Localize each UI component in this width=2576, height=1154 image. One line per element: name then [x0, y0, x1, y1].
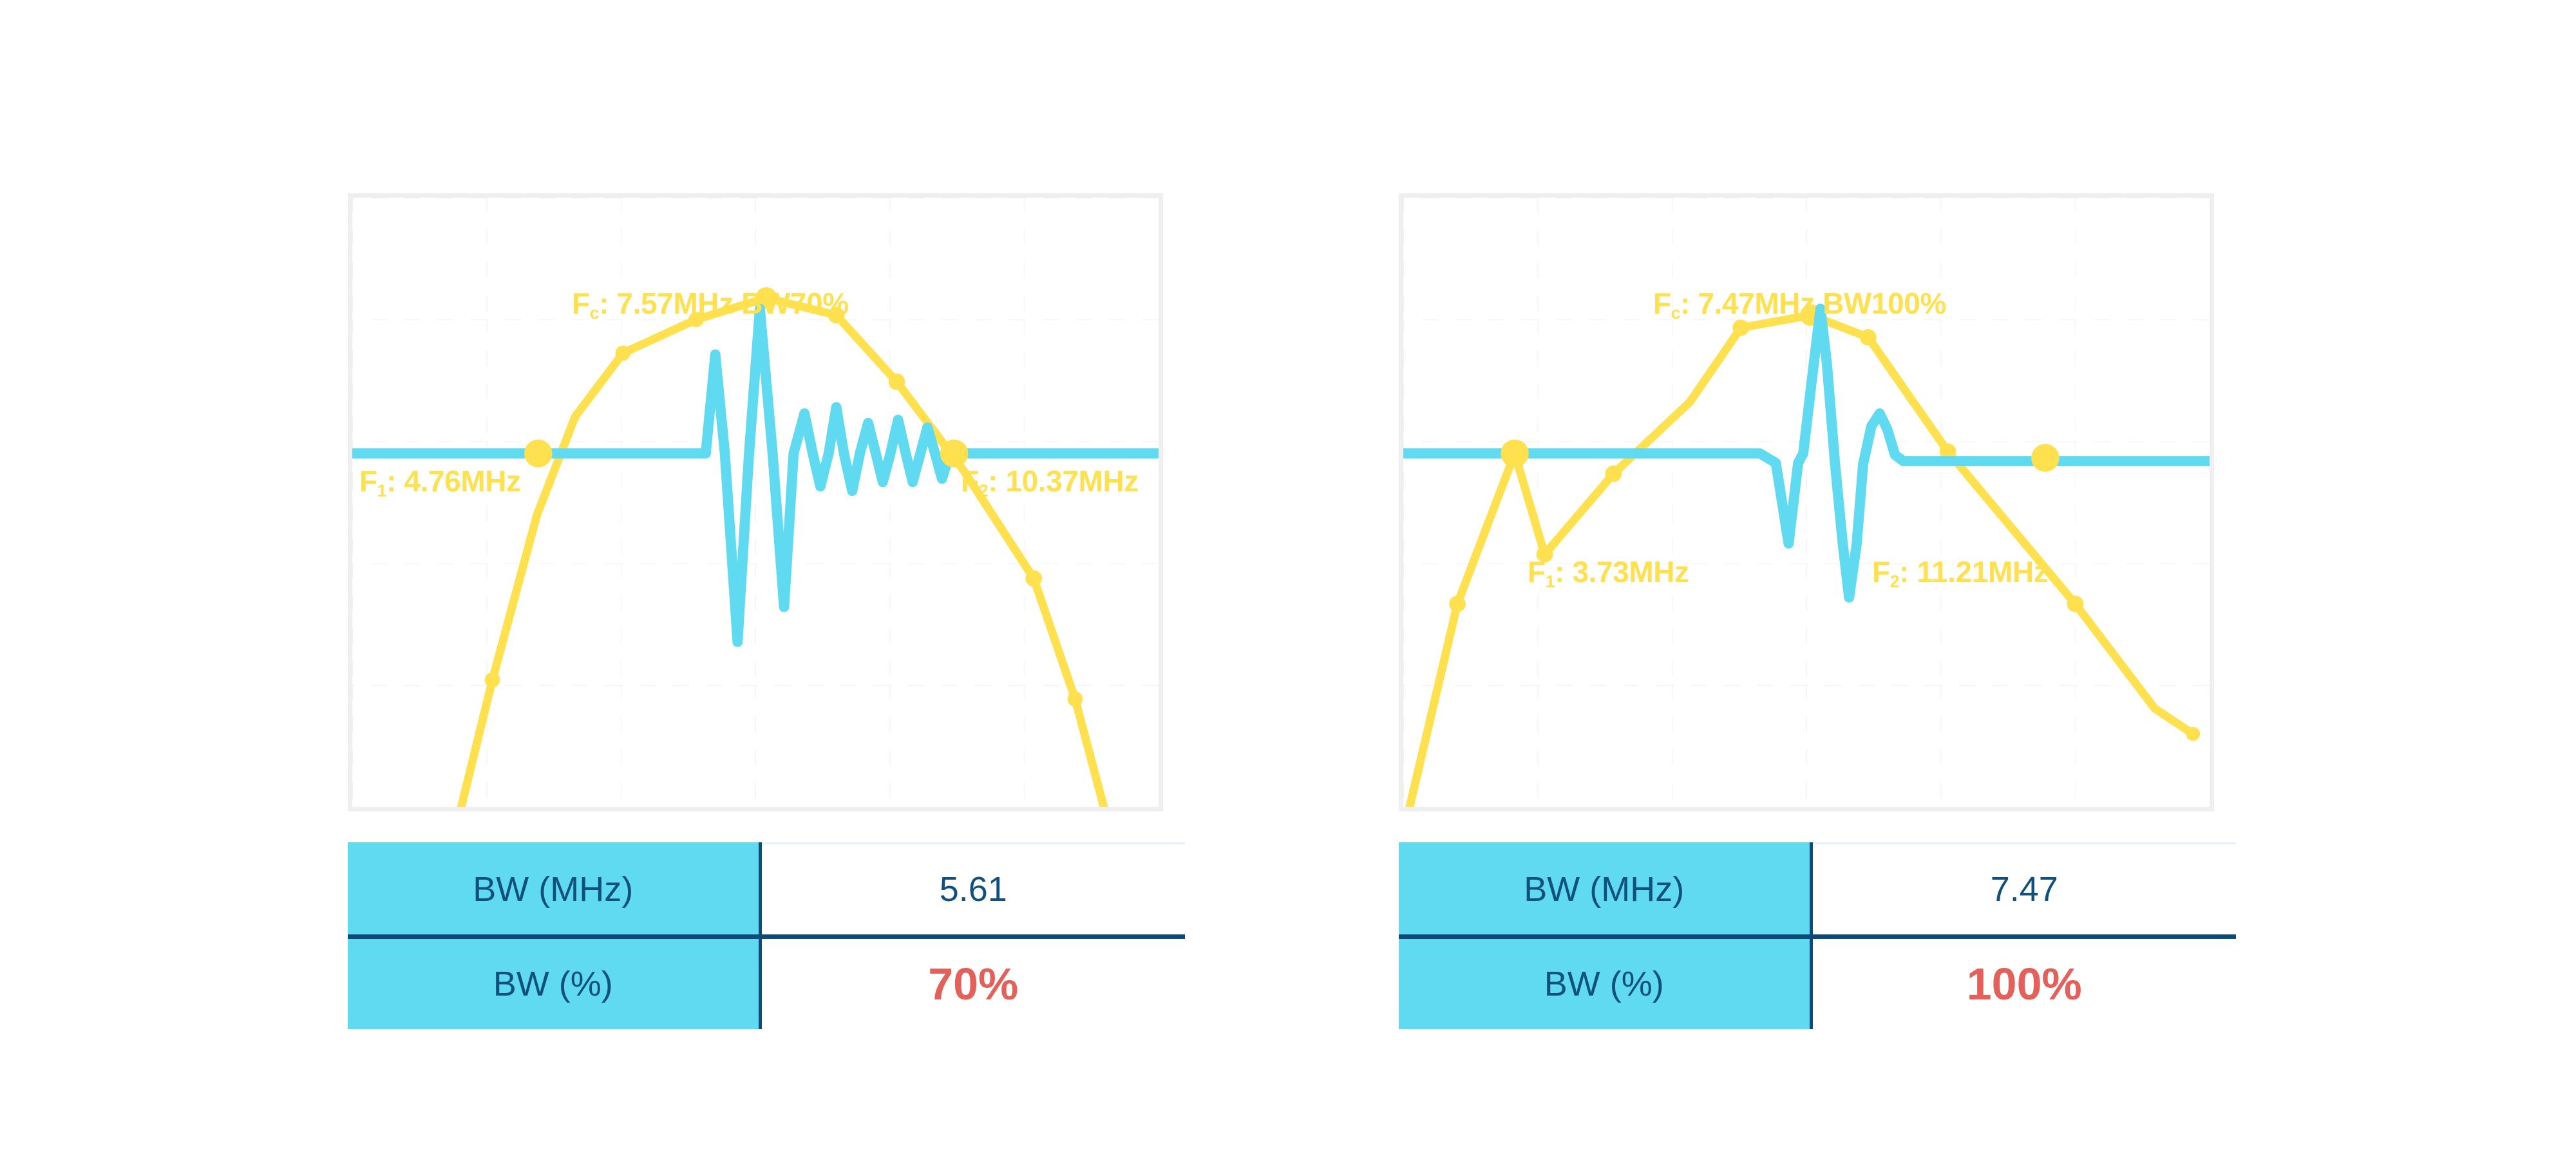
- f2-value: : 10.37MHz: [988, 464, 1139, 498]
- label-upper-cutoff: F2: 11.21MHz: [1872, 557, 2048, 587]
- label-center-frequency: Fc: 7.47MHz BW100%: [1653, 288, 1946, 318]
- f1-marker: [524, 439, 553, 467]
- row-label-bw-percent: BW (%): [1399, 937, 1811, 1030]
- fc-subscript: c: [590, 303, 599, 323]
- table-row: BW (%) 100%: [1399, 937, 2236, 1030]
- f1-value: : 4.76MHz: [386, 464, 521, 498]
- panel-bw100: Fc: 7.47MHz BW100% F1: 3.73MHz F2: 11.21…: [1399, 193, 2214, 811]
- f2-marker: [940, 439, 969, 467]
- f1-marker: [1501, 439, 1529, 467]
- table-row: BW (MHz) 5.61: [348, 844, 1185, 937]
- row-label-bw-percent: BW (%): [348, 937, 760, 1030]
- row-label-bw-mhz: BW (MHz): [1399, 844, 1811, 937]
- f1-subscript: 1: [1546, 572, 1555, 591]
- table-row: BW (MHz) 7.47: [1399, 844, 2236, 937]
- fc-value: : 7.57MHz BW70%: [599, 287, 849, 320]
- f2-subscript: 2: [979, 481, 988, 500]
- fc-value: : 7.47MHz BW100%: [1680, 287, 1946, 320]
- row-value-bw-mhz: 7.47: [1811, 844, 2236, 937]
- f2-marker: [2031, 444, 2060, 471]
- f2-value: : 11.21MHz: [1899, 555, 2048, 589]
- figure-canvas: Fc: 7.57MHz BW70% F1: 4.76MHz F2: 10.37M…: [0, 0, 2576, 1154]
- f1-symbol: F: [1528, 555, 1546, 589]
- label-upper-cutoff: F2: 10.37MHz: [961, 466, 1139, 496]
- table-row: BW (%) 70%: [348, 937, 1185, 1030]
- f1-subscript: 1: [377, 481, 386, 500]
- plot-frame-bw70: [348, 193, 1163, 811]
- f2-symbol: F: [961, 464, 979, 498]
- f1-value: : 3.73MHz: [1555, 555, 1689, 589]
- fc-subscript: c: [1671, 303, 1680, 323]
- row-value-bw-mhz: 5.61: [760, 844, 1185, 937]
- panel-bw70: Fc: 7.57MHz BW70% F1: 4.76MHz F2: 10.37M…: [348, 193, 1163, 811]
- label-center-frequency: Fc: 7.57MHz BW70%: [572, 288, 849, 318]
- row-value-bw-percent: 100%: [1811, 937, 2236, 1030]
- bandwidth-table-bw70: BW (MHz) 5.61 BW (%) 70%: [348, 842, 1185, 1029]
- label-lower-cutoff: F1: 3.73MHz: [1528, 557, 1689, 587]
- f1-symbol: F: [359, 464, 377, 498]
- plot-frame-bw100: [1399, 193, 2214, 811]
- row-value-bw-percent: 70%: [760, 937, 1185, 1030]
- fc-symbol: F: [1653, 287, 1671, 320]
- f2-subscript: 2: [1890, 572, 1899, 591]
- fc-symbol: F: [572, 287, 590, 320]
- f2-symbol: F: [1872, 555, 1890, 589]
- label-lower-cutoff: F1: 4.76MHz: [359, 466, 521, 496]
- bandwidth-table-bw100: BW (MHz) 7.47 BW (%) 100%: [1399, 842, 2236, 1029]
- row-label-bw-mhz: BW (MHz): [348, 844, 760, 937]
